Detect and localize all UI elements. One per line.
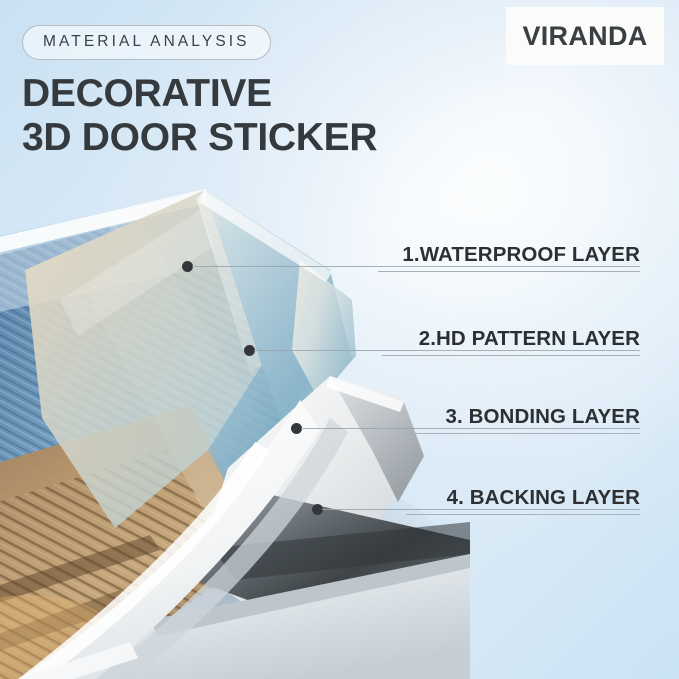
callout-label-hd-pattern-layer: 2.HD PATTERN LAYER: [419, 327, 640, 351]
page-title-line-1: DECORATIVE: [22, 72, 272, 115]
callout-underline-hd-pattern-layer: [382, 355, 640, 356]
callout-label-backing-layer: 4. BACKING LAYER: [447, 486, 640, 510]
callout-label-bonding-layer: 3. BONDING LAYER: [446, 405, 641, 429]
callout-label-waterproof-layer: 1.WATERPROOF LAYER: [402, 243, 640, 267]
brand-logo: VIRANDA: [506, 7, 664, 65]
material-analysis-badge: MATERIAL ANALYSIS: [22, 25, 271, 60]
callout-underline-bonding-layer: [402, 433, 640, 434]
sticker-artwork: [0, 150, 470, 679]
brand-logo-text: VIRANDA: [522, 21, 647, 52]
callout-underline-backing-layer: [406, 514, 640, 515]
callout-underline-waterproof-layer: [378, 271, 640, 272]
material-analysis-infographic: MATERIAL ANALYSIS DECORATIVE 3D DOOR STI…: [0, 0, 679, 679]
page-title: DECORATIVE 3D DOOR STICKER: [22, 72, 377, 160]
